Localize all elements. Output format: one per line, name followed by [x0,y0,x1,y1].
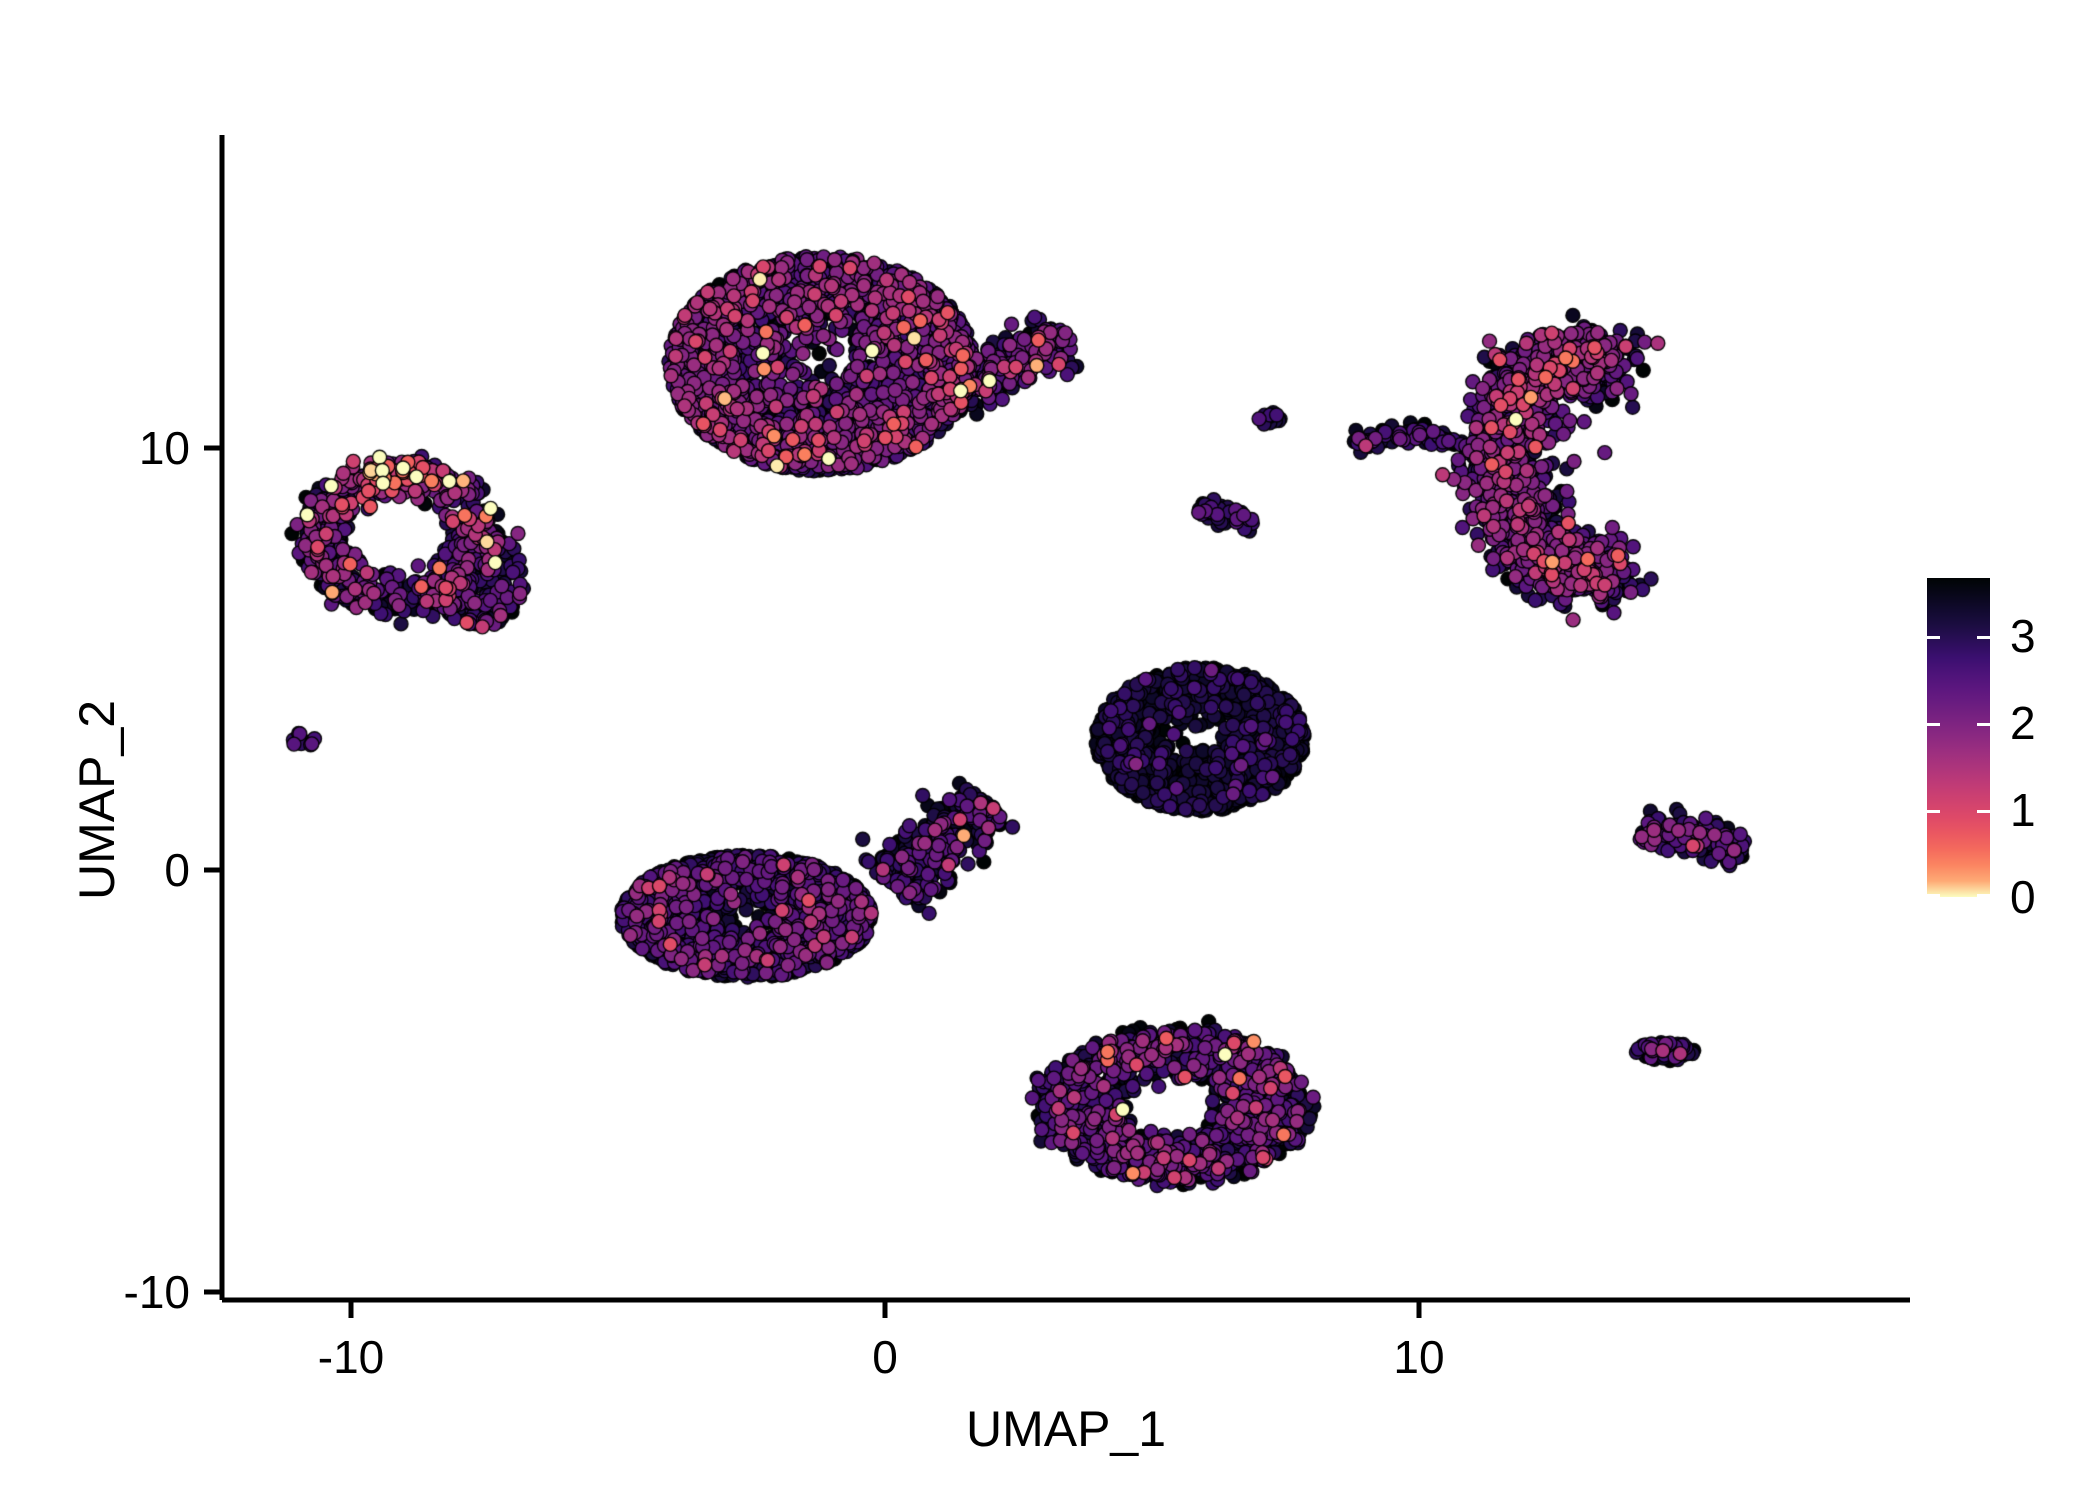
colorbar-tick-label-3: 3 [2010,609,2036,663]
colorbar-tick-mark-1-left [1927,810,1940,813]
colorbar-tick-mark-3-right [1977,636,1990,639]
colorbar-tick-mark-3-left [1927,636,1940,639]
colorbar-tick-mark-2-right [1977,723,1990,726]
scatter-plot-canvas [0,0,2100,1500]
colorbar-gradient [1927,578,1990,897]
colorbar-tick-label-1: 1 [2010,783,2036,837]
colorbar-tick-mark-1-right [1977,810,1990,813]
umap-feature-plot: ARL4D 10 0 -10 -10 0 10 UMAP_1 UMAP_2 3 … [0,0,2100,1500]
colorbar-tick-label-2: 2 [2010,696,2036,750]
colorbar-tick-mark-2-left [1927,723,1940,726]
y-axis-title: UMAP_2 [68,700,126,900]
x-axis-title: UMAP_1 [966,1400,1166,1458]
y-tick-label-10: 10 [20,421,190,475]
x-tick-label-10: 10 [1393,1330,1444,1384]
x-tick-label-neg10: -10 [318,1330,384,1384]
colorbar-tick-label-0: 0 [2010,870,2036,924]
x-tick-label-0: 0 [872,1330,898,1384]
y-tick-label-neg10: -10 [20,1265,190,1319]
colorbar-tick-mark-0-right [1977,894,1990,897]
colorbar-tick-mark-0-left [1927,894,1940,897]
